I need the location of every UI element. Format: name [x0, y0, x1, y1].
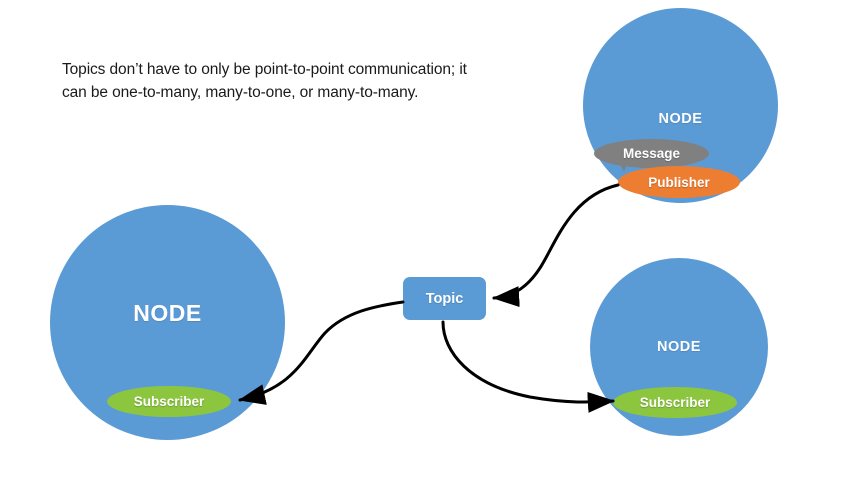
publisher-label: Publisher	[648, 175, 710, 190]
topic-box[interactable]: Topic	[403, 277, 486, 320]
node-bottom-right-label: NODE	[590, 339, 768, 355]
subscriber-ellipse-left: Subscriber	[107, 386, 231, 417]
node-top-right-label: NODE	[583, 111, 778, 127]
subscriber-label-left: Subscriber	[134, 394, 205, 409]
caption-text: Topics don’t have to only be point-to-po…	[62, 58, 482, 104]
node-left-label: NODE	[50, 300, 285, 327]
connector-publisher-to-topic	[494, 185, 618, 298]
message-label: Message	[623, 146, 680, 161]
message-ellipse: Message	[594, 139, 709, 168]
diagram-slide: Topics don’t have to only be point-to-po…	[0, 0, 854, 480]
subscriber-ellipse-bottom-right: Subscriber	[613, 387, 737, 418]
subscriber-label-bottom-right: Subscriber	[640, 395, 711, 410]
publisher-ellipse: Publisher	[618, 166, 740, 198]
topic-label: Topic	[426, 291, 464, 307]
connector-topic-to-bottom-right-subscriber	[443, 322, 613, 402]
